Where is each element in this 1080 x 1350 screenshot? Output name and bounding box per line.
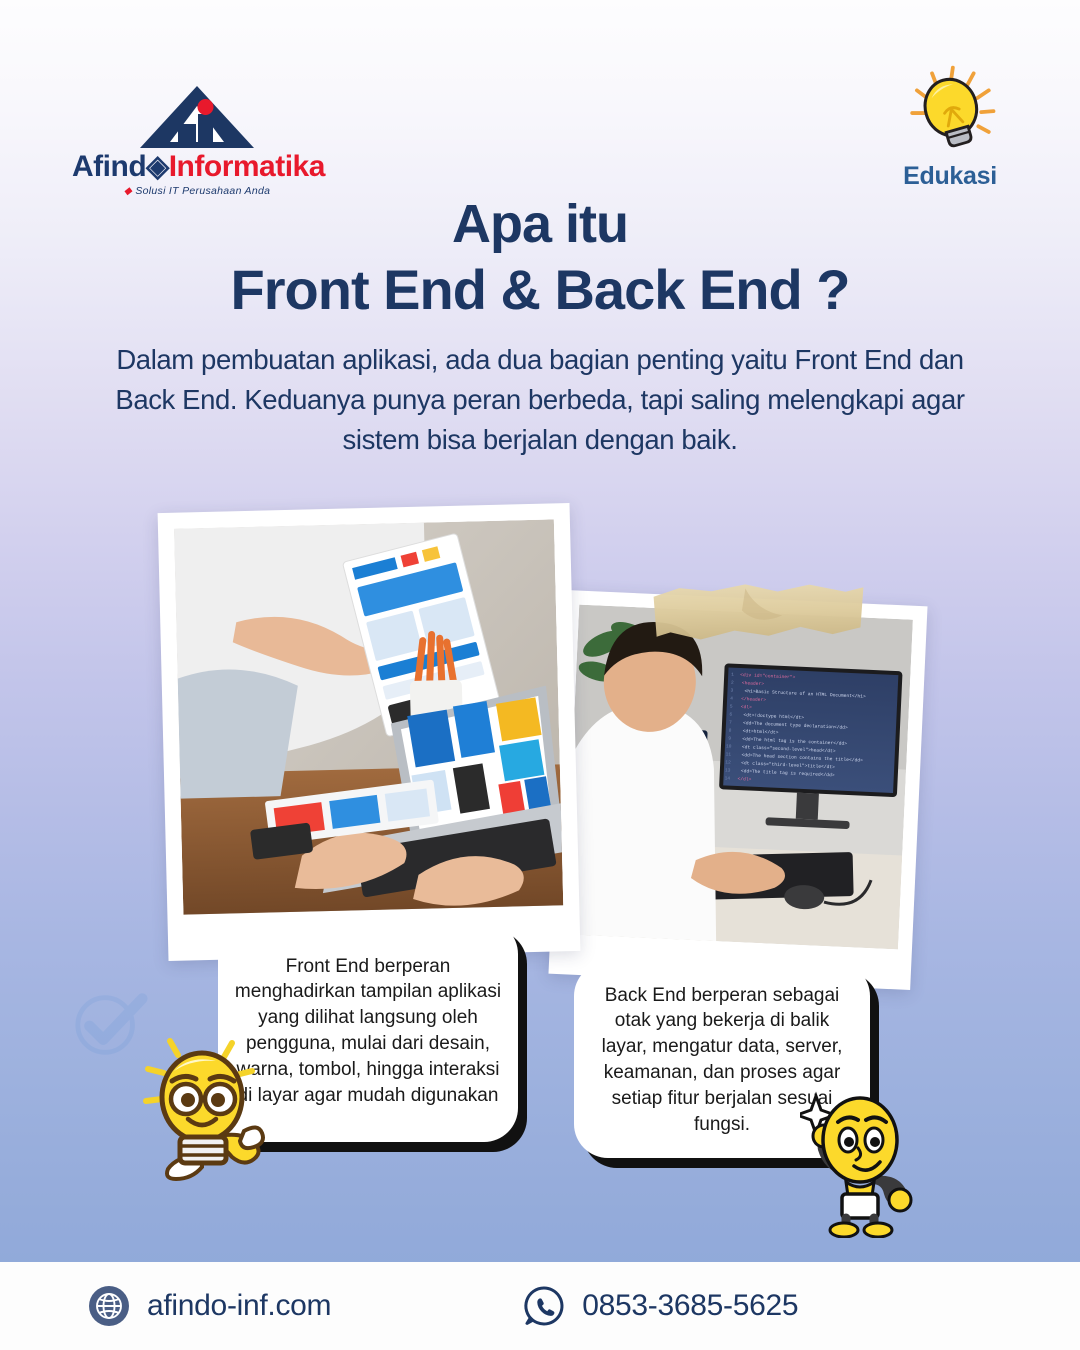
svg-text:8: 8 xyxy=(729,728,732,734)
photo-front-end xyxy=(158,503,581,961)
svg-text:</header>: </header> xyxy=(741,696,766,703)
photo-back-end: 123 456 789 101112 1314 <div id="contain… xyxy=(548,590,927,990)
washi-tape xyxy=(649,575,869,647)
svg-text:4: 4 xyxy=(730,696,733,702)
svg-text:12: 12 xyxy=(725,759,731,765)
brand-logo: Afind◈Informatika ◆ Solusi IT Perusahaan… xyxy=(72,80,322,197)
footer-phone[interactable]: 0853-3685-5625 xyxy=(523,1285,798,1327)
footer-website-text: afindo-inf.com xyxy=(147,1289,331,1323)
edukasi-badge: Edukasi xyxy=(880,62,1020,191)
svg-text:5: 5 xyxy=(730,704,733,710)
footer-contact-bar: afindo-inf.com 0853-3685-5625 xyxy=(0,1262,1080,1350)
svg-text:2: 2 xyxy=(731,680,734,686)
afindo-triangle-a-logo xyxy=(72,80,322,156)
page-subtitle: Dalam pembuatan aplikasi, ada dua bagian… xyxy=(105,340,975,460)
footer-phone-text: 0853-3685-5625 xyxy=(582,1289,798,1323)
edukasi-label: Edukasi xyxy=(880,162,1020,191)
svg-text:7: 7 xyxy=(729,720,732,726)
photo-back-end-image: 123 456 789 101112 1314 <div id="contain… xyxy=(564,605,913,950)
svg-text:<dl>: <dl> xyxy=(741,704,753,711)
logo-word-informatika: Informatika xyxy=(169,150,325,183)
svg-text:6: 6 xyxy=(729,712,732,718)
title-line-1: Apa itu xyxy=(452,194,628,254)
photo-front-end-image xyxy=(174,519,563,914)
globe-icon xyxy=(88,1285,130,1327)
bubble-front-end-text: Front End berperan menghadirkan tampilan… xyxy=(234,954,502,1109)
page-title: Apa itu Front End & Back End ? xyxy=(0,196,1080,320)
svg-text:1: 1 xyxy=(731,672,734,678)
svg-text:10: 10 xyxy=(726,743,732,749)
svg-text:</dl>: </dl> xyxy=(737,776,751,783)
svg-text:13: 13 xyxy=(725,767,731,773)
svg-text:14: 14 xyxy=(724,775,730,781)
lightbulb-icon xyxy=(898,62,1002,166)
svg-text:3: 3 xyxy=(730,688,733,694)
logo-wordmark: Afind◈Informatika xyxy=(72,152,322,182)
svg-text:9: 9 xyxy=(728,736,731,742)
logo-word-afindo: Afind xyxy=(72,150,146,183)
title-line-2: Front End & Back End ? xyxy=(0,260,1080,320)
whatsapp-icon xyxy=(523,1285,565,1327)
svg-text:<header>: <header> xyxy=(742,680,765,687)
lightbulb-mascot-glasses xyxy=(140,1025,272,1185)
lightbulb-mascot-sparkle xyxy=(800,1078,922,1238)
footer-website[interactable]: afindo-inf.com xyxy=(88,1285,331,1327)
svg-text:11: 11 xyxy=(725,751,731,757)
